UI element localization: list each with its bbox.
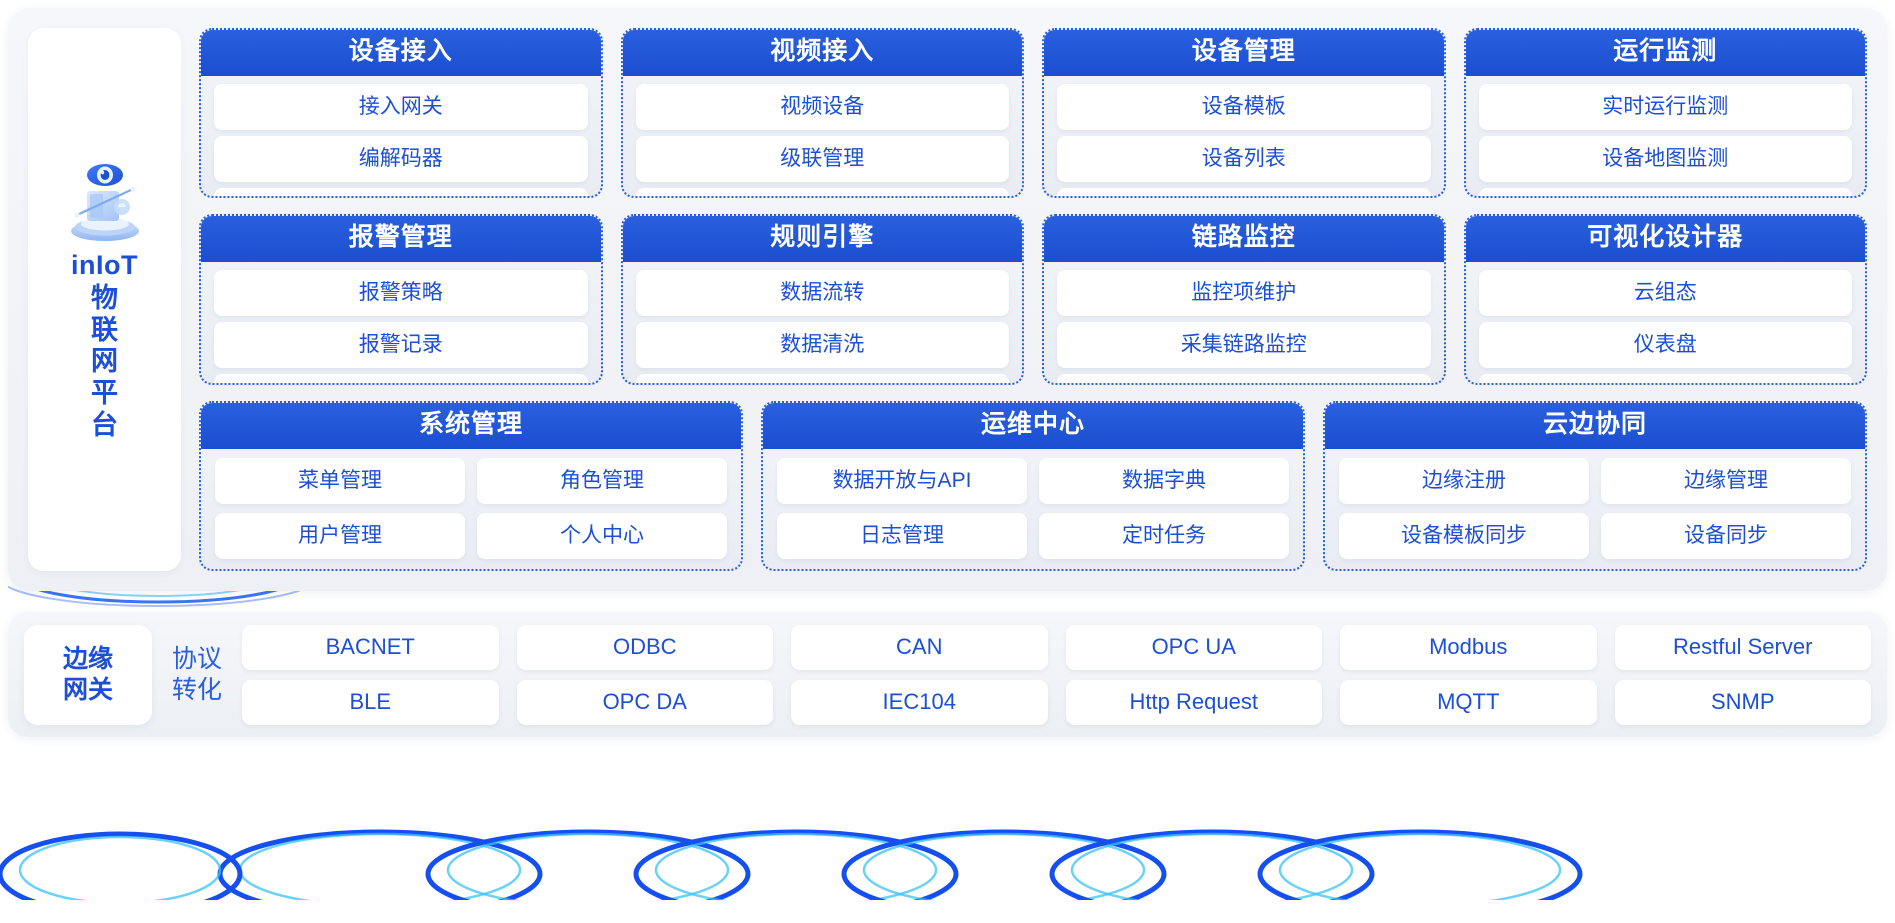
module-item[interactable]: 设备地图监测 [1479,136,1853,182]
protocol-chip[interactable]: Modbus [1340,625,1597,670]
protocol-chip[interactable]: SNMP [1615,680,1872,725]
module-item[interactable]: 边缘网关 [1057,188,1431,198]
module-item[interactable]: 采集链路监控 [1057,322,1431,368]
module-card-visual-designer[interactable]: 可视化设计器 云组态 仪表盘 素材库 [1464,214,1868,384]
module-card-device-management[interactable]: 设备管理 设备模板 设备列表 边缘网关 [1042,28,1446,198]
module-item[interactable]: 监控告警 [1057,374,1431,384]
protocol-chip-grid: BACNET ODBC CAN OPC UA Modbus Restful Se… [242,625,1871,725]
module-item-list: 云组态 仪表盘 素材库 [1466,262,1866,384]
module-item[interactable]: 数据流转 [636,270,1010,316]
module-item[interactable]: 设备证书管理 [214,188,588,198]
edge-gateway-label-line1: 边缘 [63,644,113,675]
module-item[interactable]: 视频设备 [636,84,1010,130]
module-item[interactable]: 级联管理 [636,136,1010,182]
module-item[interactable]: 日志管理 [777,513,1027,559]
module-item[interactable]: 报警记录 [214,322,588,368]
module-card-ops-center[interactable]: 运维中心 数据开放与API 数据字典 日志管理 定时任务 [761,401,1305,571]
module-item-list: 接入网关 编解码器 设备证书管理 [201,76,601,198]
protocol-chip[interactable]: Http Request [1066,680,1323,725]
module-title: 可视化设计器 [1464,214,1868,262]
protocol-chip[interactable]: BACNET [242,625,499,670]
protocol-chip[interactable]: CAN [791,625,1048,670]
protocol-chip[interactable]: OPC DA [517,680,774,725]
iot-platform-3d-icon [59,157,151,245]
module-item[interactable]: 时序数据分析 [1479,188,1853,198]
brand-card: inIoT 物联网平台 [28,28,181,571]
module-item[interactable]: 编解码器 [214,136,588,182]
module-title: 视频接入 [621,28,1025,76]
module-item[interactable]: 场景联动 [636,374,1010,384]
protocol-label-line2: 转化 [166,675,228,706]
module-card-runtime-monitoring[interactable]: 运行监测 实时运行监测 设备地图监测 时序数据分析 [1464,28,1868,198]
module-item[interactable]: 数据开放与API [777,458,1027,504]
module-card-system-management[interactable]: 系统管理 菜单管理 角色管理 用户管理 个人中心 [199,401,743,571]
brand-name-cn: 物联网平台 [88,283,122,442]
module-title: 设备接入 [199,28,603,76]
module-item-list: 菜单管理 角色管理 用户管理 个人中心 [201,449,741,569]
module-card-device-access[interactable]: 设备接入 接入网关 编解码器 设备证书管理 [199,28,603,198]
module-item-list: 报警策略 报警记录 消息管理 [201,262,601,384]
module-item-list: 数据流转 数据清洗 场景联动 [623,262,1023,384]
protocol-chip[interactable]: Restful Server [1615,625,1872,670]
module-item[interactable]: 定时任务 [1039,513,1289,559]
module-title: 链路监控 [1042,214,1446,262]
module-card-rule-engine[interactable]: 规则引擎 数据流转 数据清洗 场景联动 [621,214,1025,384]
module-title: 报警管理 [199,214,603,262]
module-item[interactable]: 素材库 [1479,374,1853,384]
protocol-chip[interactable]: ODBC [517,625,774,670]
module-row-3: 系统管理 菜单管理 角色管理 用户管理 个人中心 运维中心 数据开放与API 数… [199,401,1867,571]
module-item[interactable]: 设备列表 [1057,136,1431,182]
module-item[interactable]: 设备模板 [1057,84,1431,130]
protocol-chip[interactable]: BLE [242,680,499,725]
module-grid: 设备接入 接入网关 编解码器 设备证书管理 视频接入 视频设备 级联管理 视频报… [199,28,1867,571]
protocol-chip[interactable]: IEC104 [791,680,1048,725]
module-item[interactable]: 实时运行监测 [1479,84,1853,130]
module-title: 运行监测 [1464,28,1868,76]
module-title: 设备管理 [1042,28,1446,76]
module-item[interactable]: 视频报警 [636,188,1010,198]
module-item[interactable]: 接入网关 [214,84,588,130]
module-row-2: 报警管理 报警策略 报警记录 消息管理 规则引擎 数据流转 数据清洗 场景联动 [199,214,1867,384]
module-item[interactable]: 监控项维护 [1057,270,1431,316]
module-card-alarm-management[interactable]: 报警管理 报警策略 报警记录 消息管理 [199,214,603,384]
module-item-list: 数据开放与API 数据字典 日志管理 定时任务 [763,449,1303,569]
module-item[interactable]: 云组态 [1479,270,1853,316]
protocol-chip[interactable]: MQTT [1340,680,1597,725]
edge-gateway-label-line2: 网关 [63,675,113,706]
module-card-cloud-edge-collab[interactable]: 云边协同 边缘注册 边缘管理 设备模板同步 设备同步 [1323,401,1867,571]
protocol-conversion-label: 协议 转化 [166,644,228,705]
module-item-list: 设备模板 设备列表 边缘网关 [1044,76,1444,198]
module-card-link-monitoring[interactable]: 链路监控 监控项维护 采集链路监控 监控告警 [1042,214,1446,384]
gateway-base-glow [0,724,1895,923]
module-title: 系统管理 [199,401,743,449]
module-item[interactable]: 个人中心 [477,513,727,559]
module-item[interactable]: 边缘管理 [1601,458,1851,504]
module-item[interactable]: 角色管理 [477,458,727,504]
module-item-list: 视频设备 级联管理 视频报警 [623,76,1023,198]
module-title: 云边协同 [1323,401,1867,449]
module-item[interactable]: 菜单管理 [215,458,465,504]
module-item-list: 监控项维护 采集链路监控 监控告警 [1044,262,1444,384]
edge-gateway-label-card: 边缘 网关 [24,625,152,725]
module-title: 运维中心 [761,401,1305,449]
module-item-list: 边缘注册 边缘管理 设备模板同步 设备同步 [1325,449,1865,569]
gateway-glow-svg [0,724,1895,923]
module-item[interactable]: 设备模板同步 [1339,513,1589,559]
module-item[interactable]: 数据清洗 [636,322,1010,368]
module-item[interactable]: 消息管理 [214,374,588,384]
protocol-chip[interactable]: OPC UA [1066,625,1323,670]
module-item[interactable]: 数据字典 [1039,458,1289,504]
edge-gateway-panel: 边缘 网关 协议 转化 BACNET ODBC CAN OPC UA Modbu… [8,612,1887,737]
module-title: 规则引擎 [621,214,1025,262]
module-item[interactable]: 报警策略 [214,270,588,316]
module-card-video-access[interactable]: 视频接入 视频设备 级联管理 视频报警 [621,28,1025,198]
module-item[interactable]: 用户管理 [215,513,465,559]
module-item[interactable]: 设备同步 [1601,513,1851,559]
module-row-1: 设备接入 接入网关 编解码器 设备证书管理 视频接入 视频设备 级联管理 视频报… [199,28,1867,198]
module-item[interactable]: 边缘注册 [1339,458,1589,504]
protocol-label-line1: 协议 [166,644,228,675]
platform-panel: inIoT 物联网平台 设备接入 接入网关 编解码器 设备证书管理 视频接入 [8,8,1887,591]
architecture-diagram: inIoT 物联网平台 设备接入 接入网关 编解码器 设备证书管理 视频接入 [0,0,1895,923]
brand-name-en: inIoT [71,251,138,281]
module-item[interactable]: 仪表盘 [1479,322,1853,368]
module-item-list: 实时运行监测 设备地图监测 时序数据分析 [1466,76,1866,198]
